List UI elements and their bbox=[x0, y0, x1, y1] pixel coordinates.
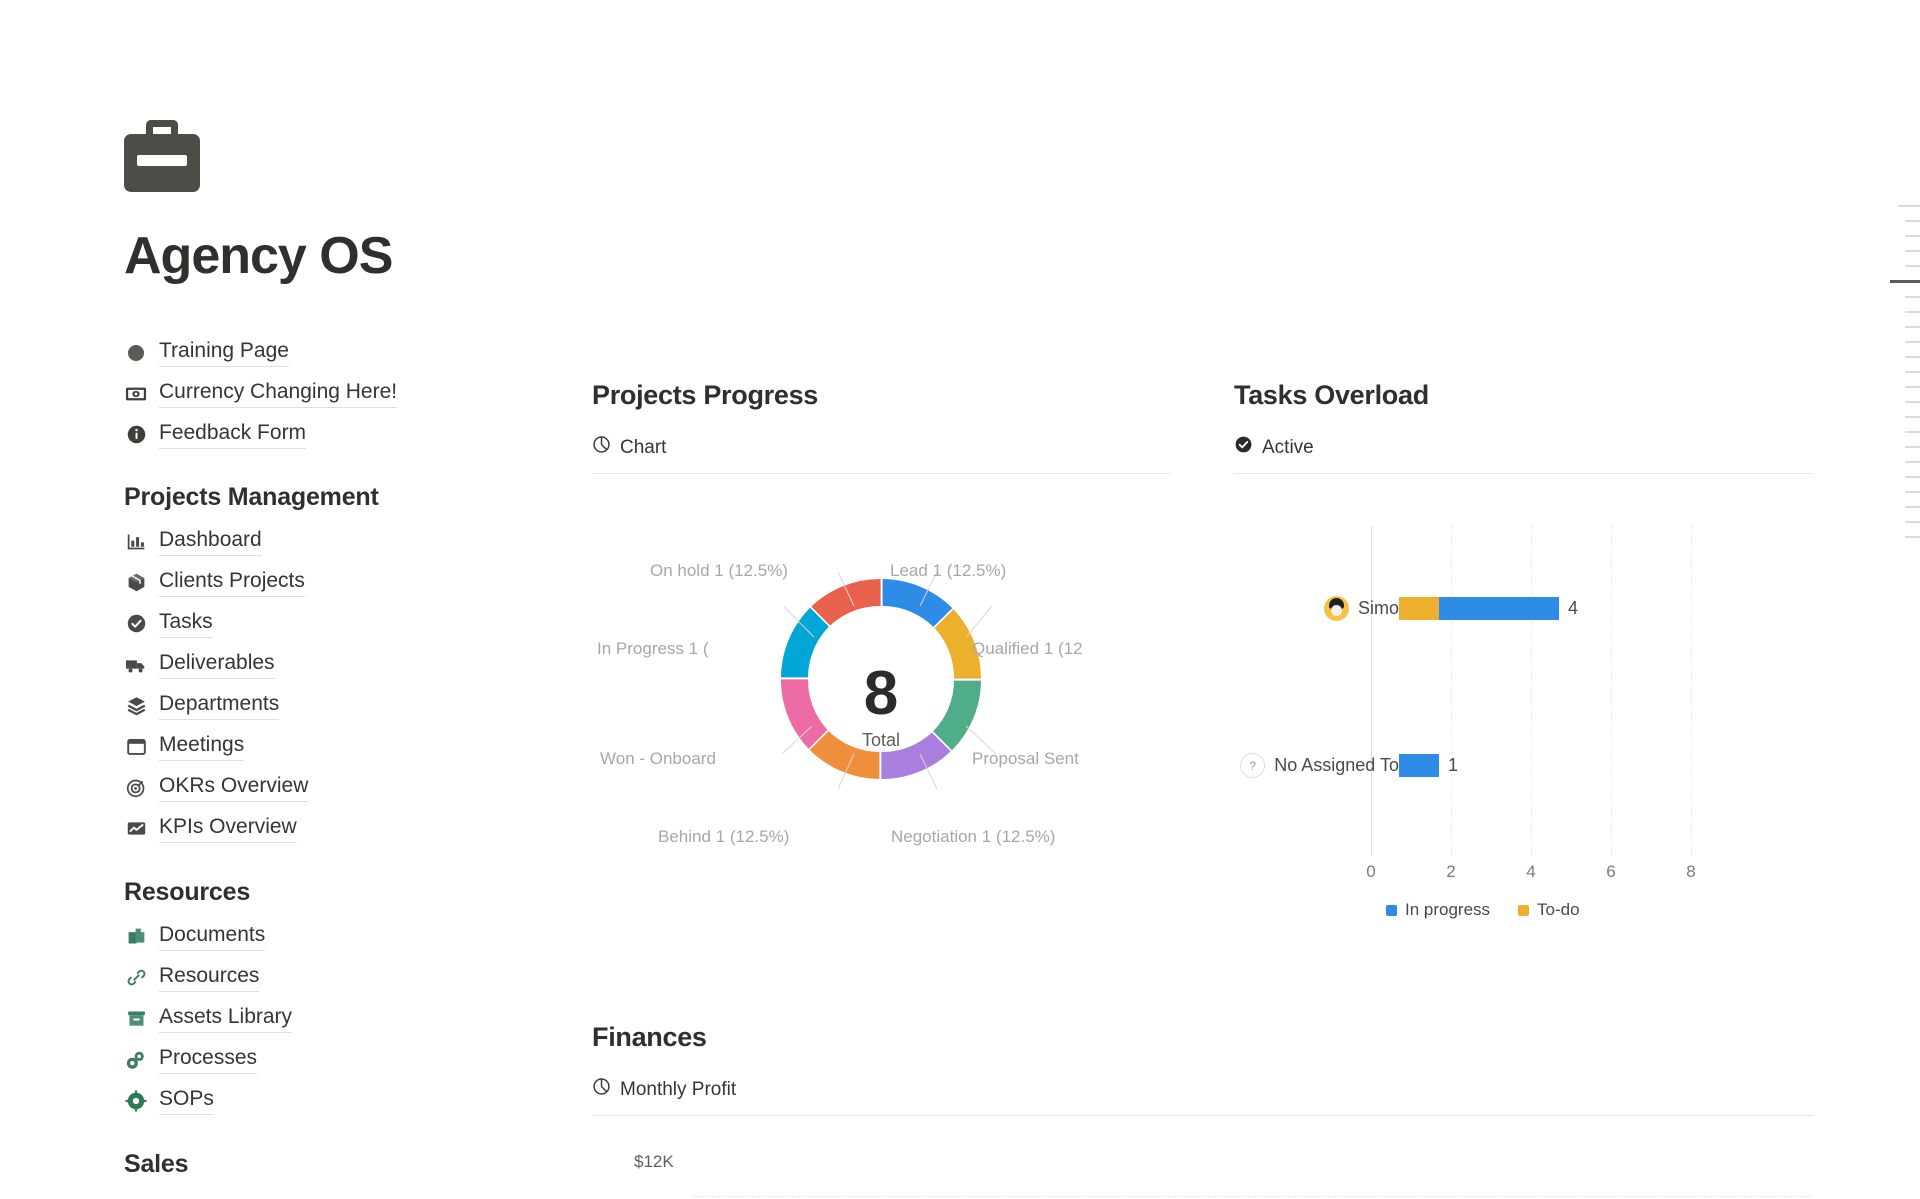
sidebar-item-sops[interactable]: SOPs bbox=[124, 1080, 544, 1121]
layers-icon bbox=[124, 694, 148, 718]
sidebar-item-label: Feedback Form bbox=[159, 420, 306, 448]
minimap-tick bbox=[1905, 461, 1920, 463]
minimap-tick bbox=[1905, 356, 1920, 358]
gear-icon bbox=[124, 1089, 148, 1113]
minimap-tick bbox=[1905, 521, 1920, 523]
donut-center-label: Total bbox=[592, 730, 1170, 751]
legend-item-to-do[interactable]: To-do bbox=[1518, 900, 1580, 920]
truck-icon bbox=[124, 653, 148, 677]
sidebar-item-label: Clients Projects bbox=[159, 568, 305, 596]
bar-chart-icon bbox=[124, 530, 148, 554]
sidebar-section-resources: Resources bbox=[124, 878, 544, 907]
sidebar-item-departments[interactable]: Departments bbox=[124, 685, 544, 726]
minimap-tick bbox=[1905, 341, 1920, 343]
x-tick-4: 4 bbox=[1526, 862, 1535, 882]
legend-item-in-progress[interactable]: In progress bbox=[1386, 900, 1490, 920]
bar-total-label: 1 bbox=[1448, 755, 1458, 776]
check-circle-icon bbox=[124, 612, 148, 636]
minimap-tick bbox=[1905, 491, 1920, 493]
tab-chart[interactable]: Chart bbox=[592, 435, 1170, 474]
grid-line-4 bbox=[1531, 526, 1532, 856]
slice-label-won-onboarding: Won - Onboard bbox=[600, 749, 716, 769]
pie-chart-icon bbox=[592, 435, 611, 460]
sidebar-item-label: Documents bbox=[159, 922, 265, 950]
tab-label: Active bbox=[1262, 437, 1314, 459]
bar-chart-legend: In progress To-do bbox=[1386, 900, 1580, 920]
sidebar-item-label: KPIs Overview bbox=[159, 814, 297, 842]
finances-title: Finances bbox=[592, 1022, 1842, 1053]
minimap-tick bbox=[1905, 506, 1920, 508]
minimap-tick bbox=[1905, 431, 1920, 433]
grid-line-6 bbox=[1611, 526, 1612, 856]
finances-y-axis-top-label: $12K bbox=[634, 1152, 1842, 1172]
slice-label-qualified: Qualified 1 (12 bbox=[972, 639, 1083, 659]
slice-label-negotiation: Negotiation 1 (12.5%) bbox=[891, 827, 1055, 847]
sidebar-item-documents[interactable]: Documents bbox=[124, 916, 544, 957]
tab-active[interactable]: Active bbox=[1234, 435, 1812, 474]
gears-icon bbox=[124, 1048, 148, 1072]
slice-label-on-hold: On hold 1 (12.5%) bbox=[650, 561, 788, 581]
documents-icon bbox=[124, 925, 148, 949]
sidebar-item-currency-changing-here[interactable]: Currency Changing Here! bbox=[124, 373, 544, 414]
sidebar-item-label: OKRs Overview bbox=[159, 773, 308, 801]
minimap-tick bbox=[1905, 296, 1920, 298]
bar-category-simo: Simo bbox=[1234, 596, 1399, 621]
calendar-icon bbox=[124, 735, 148, 759]
tab-label: Monthly Profit bbox=[620, 1079, 736, 1101]
sidebar-item-label: Deliverables bbox=[159, 650, 275, 678]
minimap-tick bbox=[1905, 326, 1920, 328]
x-tick-6: 6 bbox=[1606, 862, 1615, 882]
slice-lead bbox=[883, 579, 953, 627]
bar-segment-in-progress[interactable] bbox=[1439, 597, 1559, 620]
donut-center-value: 8 bbox=[592, 658, 1170, 729]
sidebar-item-processes[interactable]: Processes bbox=[124, 1039, 544, 1080]
minimap-tick bbox=[1905, 401, 1920, 403]
line-chart-icon bbox=[124, 817, 148, 841]
sidebar-item-deliverables[interactable]: Deliverables bbox=[124, 644, 544, 685]
box-icon bbox=[124, 571, 148, 595]
minimap-tick bbox=[1905, 476, 1920, 478]
x-tick-2: 2 bbox=[1446, 862, 1455, 882]
minimap-tick bbox=[1905, 536, 1920, 538]
avatar bbox=[1324, 596, 1349, 621]
legend-color-swatch bbox=[1386, 905, 1397, 916]
sidebar-item-label: Dashboard bbox=[159, 527, 262, 555]
pie-chart-icon bbox=[592, 1077, 611, 1102]
minimap-tick bbox=[1905, 250, 1920, 252]
projects-progress-title: Projects Progress bbox=[592, 380, 1170, 411]
sidebar-item-label: Assets Library bbox=[159, 1004, 292, 1032]
circle-icon bbox=[124, 341, 148, 365]
target-icon bbox=[124, 776, 148, 800]
page-minimap-scrollbar[interactable] bbox=[1878, 205, 1920, 551]
bar-category-label: Simo bbox=[1358, 598, 1399, 619]
sidebar-item-dashboard[interactable]: Dashboard bbox=[124, 521, 544, 562]
bar-segment-in-progress[interactable] bbox=[1399, 754, 1439, 777]
sidebar-item-tasks[interactable]: Tasks bbox=[124, 603, 544, 644]
sidebar-item-label: Currency Changing Here! bbox=[159, 379, 397, 407]
tab-monthly-profit[interactable]: Monthly Profit bbox=[592, 1077, 1814, 1116]
panel-row: Projects Progress Chart bbox=[592, 380, 1842, 934]
finances-gridline bbox=[692, 1196, 1812, 1197]
info-icon bbox=[124, 423, 148, 447]
sidebar: Agency OS Training Page Currency Changin… bbox=[124, 120, 544, 1188]
minimap-tick bbox=[1905, 235, 1920, 237]
slice-label-lead: Lead 1 (12.5%) bbox=[890, 561, 1006, 581]
y-axis-line bbox=[1371, 526, 1372, 856]
sidebar-item-label: Resources bbox=[159, 963, 259, 991]
minimap-tick-active bbox=[1890, 280, 1920, 283]
sidebar-item-training-page[interactable]: Training Page bbox=[124, 332, 544, 373]
bar-category-label: No Assigned To bbox=[1274, 755, 1399, 776]
sidebar-section-sales: Sales bbox=[124, 1150, 544, 1179]
sidebar-item-label: Tasks bbox=[159, 609, 213, 637]
minimap-tick bbox=[1905, 371, 1920, 373]
archive-icon bbox=[124, 1007, 148, 1031]
slice-label-in-progress: In Progress 1 ( bbox=[597, 639, 709, 659]
x-tick-8: 8 bbox=[1686, 862, 1695, 882]
legend-label: To-do bbox=[1537, 900, 1580, 920]
question-mark-icon: ? bbox=[1240, 753, 1265, 778]
grid-line-8 bbox=[1691, 526, 1692, 856]
sidebar-item-resources[interactable]: Resources bbox=[124, 957, 544, 998]
sidebar-item-label: Departments bbox=[159, 691, 279, 719]
minimap-tick bbox=[1898, 205, 1920, 207]
sidebar-item-assets-library[interactable]: Assets Library bbox=[124, 998, 544, 1039]
legend-color-swatch bbox=[1518, 905, 1529, 916]
tab-label: Chart bbox=[620, 437, 666, 459]
table-row: ? No Assigned To 1 bbox=[1234, 753, 1458, 778]
slice-on-hold bbox=[811, 579, 880, 626]
dashboard-page: Agency OS Training Page Currency Changin… bbox=[0, 0, 1920, 1199]
tasks-overload-title: Tasks Overload bbox=[1234, 380, 1812, 411]
sidebar-item-kpis-overview[interactable]: KPIs Overview bbox=[124, 808, 544, 849]
check-circle-icon bbox=[1234, 435, 1253, 460]
bar-segment-to-do[interactable] bbox=[1399, 597, 1439, 620]
legend-label: In progress bbox=[1405, 900, 1490, 920]
minimap-tick bbox=[1905, 265, 1920, 267]
slice-label-behind: Behind 1 (12.5%) bbox=[658, 827, 789, 847]
tasks-bar-chart: Simo 4 ? No Assigned To 1 bbox=[1234, 504, 1812, 934]
sidebar-item-label: Processes bbox=[159, 1045, 257, 1073]
briefcase-icon bbox=[124, 120, 200, 192]
sidebar-item-label: Training Page bbox=[159, 338, 289, 366]
projects-donut-chart: 8 Total Lead 1 (12.5%) Qualified 1 (12 P… bbox=[592, 504, 1170, 934]
link-icon bbox=[124, 966, 148, 990]
bar-category-no-assigned-to: ? No Assigned To bbox=[1234, 753, 1399, 778]
sidebar-item-label: SOPs bbox=[159, 1086, 214, 1114]
sidebar-item-meetings[interactable]: Meetings bbox=[124, 726, 544, 767]
projects-progress-panel: Projects Progress Chart bbox=[592, 380, 1170, 934]
page-title: Agency OS bbox=[124, 230, 544, 282]
sidebar-item-label: Meetings bbox=[159, 732, 244, 760]
sidebar-item-okrs-overview[interactable]: OKRs Overview bbox=[124, 767, 544, 808]
table-row: Simo 4 bbox=[1234, 596, 1578, 621]
minimap-tick bbox=[1905, 386, 1920, 388]
finances-chart-area: $12K bbox=[592, 1152, 1842, 1199]
sidebar-item-feedback-form[interactable]: Feedback Form bbox=[124, 414, 544, 455]
finances-panel: Finances Monthly Profit $12K bbox=[592, 1022, 1842, 1199]
tasks-overload-panel: Tasks Overload Active bbox=[1234, 380, 1812, 934]
bar-total-label: 4 bbox=[1568, 598, 1578, 619]
minimap-tick bbox=[1905, 416, 1920, 418]
slice-label-proposal-sent: Proposal Sent bbox=[972, 749, 1079, 769]
x-tick-0: 0 bbox=[1366, 862, 1375, 882]
sidebar-item-clients-projects[interactable]: Clients Projects bbox=[124, 562, 544, 603]
sidebar-section-projects-management: Projects Management bbox=[124, 483, 544, 512]
minimap-tick bbox=[1905, 220, 1920, 222]
money-icon bbox=[124, 382, 148, 406]
main-content: Projects Progress Chart bbox=[592, 380, 1842, 1199]
minimap-tick bbox=[1905, 446, 1920, 448]
minimap-tick bbox=[1905, 311, 1920, 313]
grid-line-2 bbox=[1451, 526, 1452, 856]
